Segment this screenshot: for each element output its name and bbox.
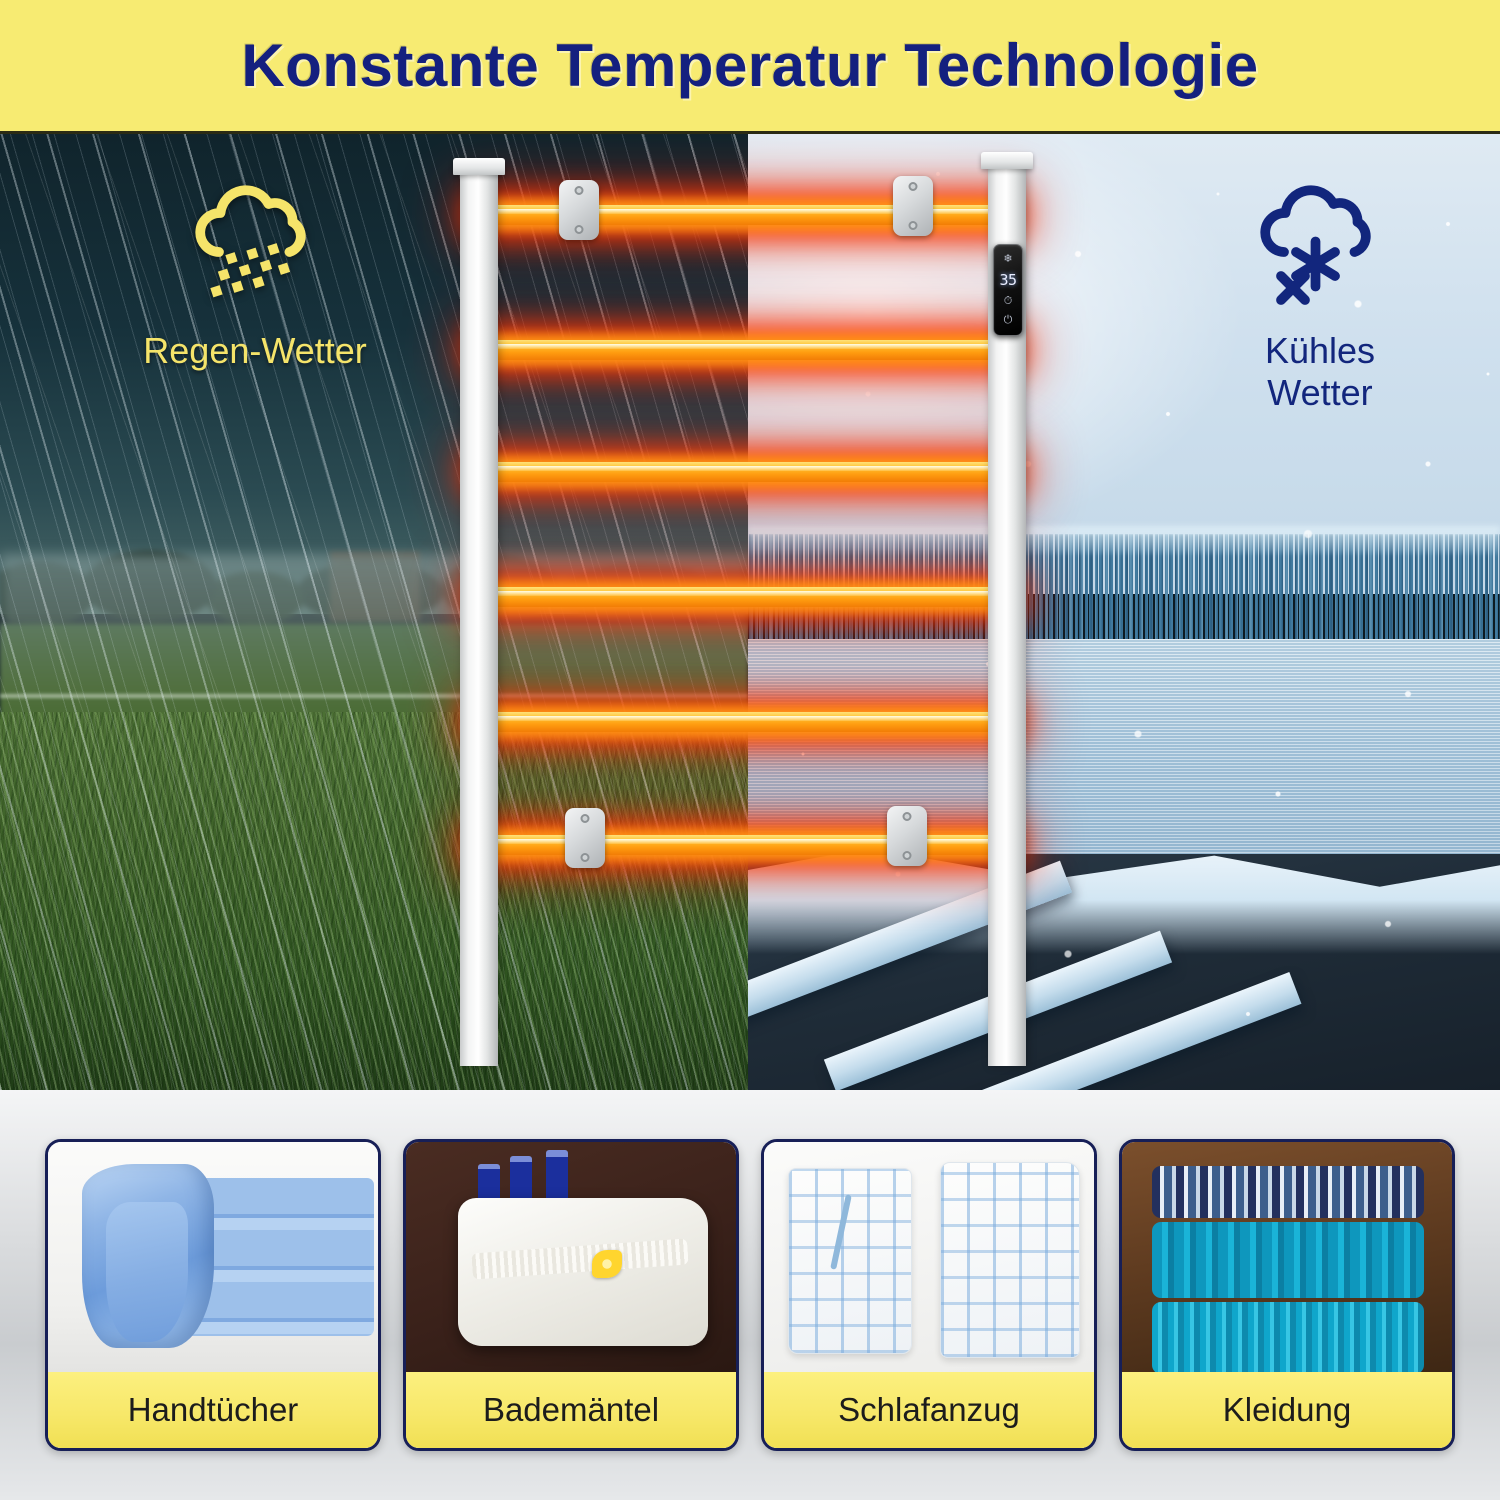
- pyjama-top: [940, 1162, 1080, 1358]
- header-banner: Konstante Temperatur Technologie: [0, 0, 1500, 134]
- card-label-bathrobes: Bademäntel: [406, 1372, 736, 1448]
- draped-towel-fold: [106, 1202, 188, 1342]
- pyjamas-photo: [764, 1142, 1094, 1372]
- rain-weather-badge: Regen-Wetter: [110, 174, 400, 372]
- snow-badge-line2: Wetter: [1267, 372, 1372, 413]
- frangipani-flower-icon: [592, 1250, 622, 1278]
- clothing-photo: [1122, 1142, 1452, 1372]
- bathrobes-photo: [406, 1142, 736, 1372]
- folded-garment: [1152, 1166, 1424, 1218]
- rain-cloud-icon: [180, 174, 330, 324]
- hero-split-scene: ❄ 35 ⏱ ⏻ Regen-Wetter: [0, 134, 1500, 1090]
- use-case-card-bathrobes[interactable]: Bademäntel: [403, 1139, 739, 1451]
- use-case-card-strip: Handtücher Bademäntel Schlafanzug Kleidu…: [0, 1090, 1500, 1500]
- snow-cloud-icon: [1245, 174, 1395, 324]
- card-label-clothing: Kleidung: [1122, 1372, 1452, 1448]
- page-title: Konstante Temperatur Technologie: [241, 31, 1258, 100]
- towels-photo: [48, 1142, 378, 1372]
- snow-badge-line1: Kühles: [1265, 330, 1375, 371]
- snow-weather-badge: Kühles Wetter: [1175, 174, 1465, 415]
- use-case-card-pyjamas[interactable]: Schlafanzug: [761, 1139, 1097, 1451]
- rain-badge-label: Regen-Wetter: [143, 330, 366, 372]
- card-label-pyjamas: Schlafanzug: [764, 1372, 1094, 1448]
- use-case-card-towels[interactable]: Handtücher: [45, 1139, 381, 1451]
- folded-garment: [1152, 1302, 1424, 1372]
- snow-badge-label: Kühles Wetter: [1265, 330, 1375, 415]
- folded-garment: [1152, 1222, 1424, 1298]
- card-label-towels: Handtücher: [48, 1372, 378, 1448]
- use-case-card-clothing[interactable]: Kleidung: [1119, 1139, 1455, 1451]
